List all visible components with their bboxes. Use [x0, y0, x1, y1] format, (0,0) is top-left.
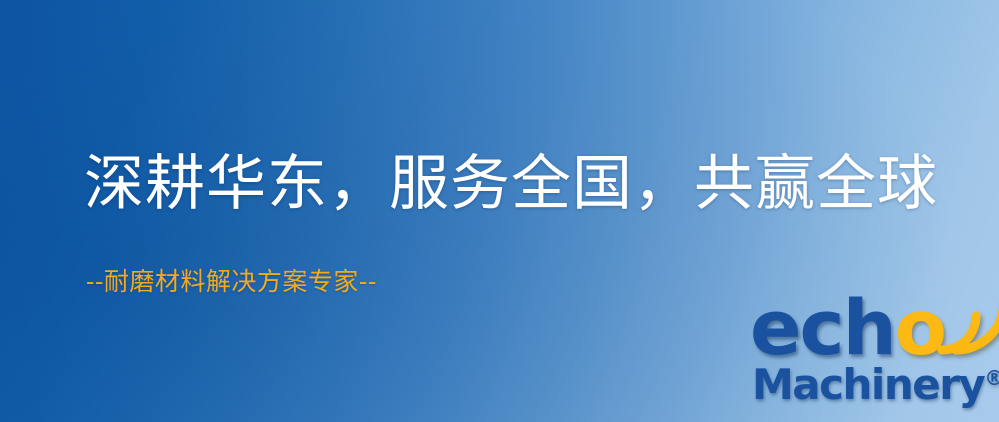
- promo-banner: 深耕华东，服务全国，共赢全球 --耐磨材料解决方案专家-- echo Machi…: [0, 0, 999, 422]
- logo-wordmark-echo: echo: [750, 290, 945, 366]
- signal-waves-icon: [934, 292, 999, 356]
- logo-wordmark-machinery: Machinery®: [752, 364, 999, 406]
- page-subtitle: --耐磨材料解决方案专家--: [86, 268, 377, 296]
- registered-trademark-icon: ®: [984, 366, 999, 390]
- page-title: 深耕华东，服务全国，共赢全球: [84, 152, 938, 217]
- logo-machinery-text: Machinery: [752, 360, 984, 409]
- company-logo: echo Machinery®: [748, 296, 999, 422]
- logo-wordmark-ech: ech: [750, 283, 895, 372]
